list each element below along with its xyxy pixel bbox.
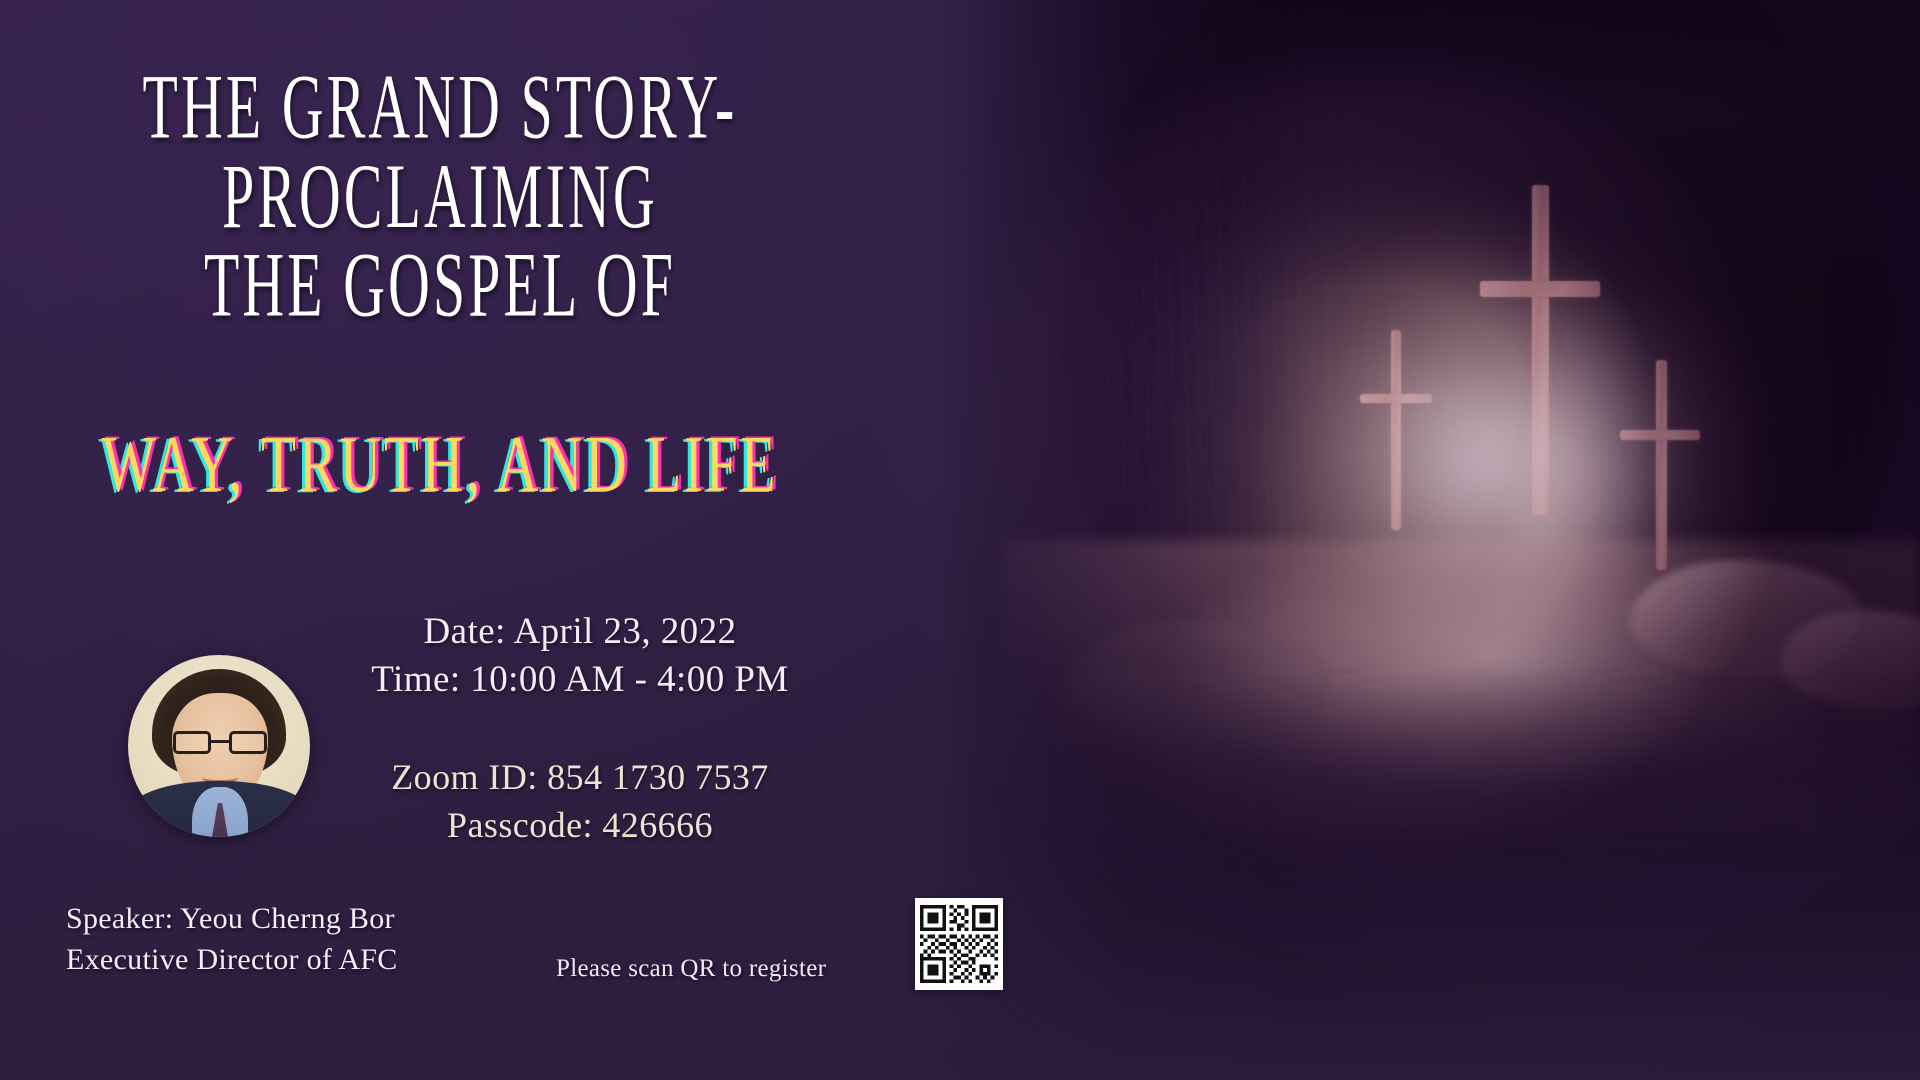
zoom-id: Zoom ID: 854 1730 7537: [300, 754, 860, 802]
headline-line-1: THE GRAND STORY-: [114, 62, 765, 151]
headline-line-2: PROCLAIMING: [114, 151, 765, 240]
speaker-avatar: [128, 655, 310, 837]
speaker-name: Speaker: Yeou Cherng Bor: [66, 898, 398, 939]
page-title: THE GRAND STORY- PROCLAIMING THE GOSPEL …: [114, 62, 765, 330]
zoom-passcode: Passcode: 426666: [300, 802, 860, 850]
meeting-access-info: Zoom ID: 854 1730 7537 Passcode: 426666: [300, 754, 860, 849]
qr-caption: Please scan QR to register: [556, 955, 826, 983]
event-time: Time: 10:00 AM - 4:00 PM: [300, 656, 860, 704]
tomb-crosses-photo: [940, 0, 1920, 1080]
event-date: Date: April 23, 2022: [300, 608, 860, 656]
speaker-title: Executive Director of AFC: [66, 939, 398, 980]
cross-right-icon: [1620, 360, 1700, 570]
glasses-icon: [172, 731, 268, 754]
speaker-caption: Speaker: Yeou Cherng Bor Executive Direc…: [66, 898, 398, 981]
glitch-core-layer: WAY, TRUTH, AND LIFE: [102, 419, 778, 509]
event-flyer: THE GRAND STORY- PROCLAIMING THE GOSPEL …: [0, 0, 1920, 1080]
cross-center-icon: [1480, 185, 1600, 515]
cross-left-icon: [1360, 330, 1432, 530]
headline-accent-line: WAY, TRUTH, AND LIFE WAY, TRUTH, AND LIF…: [88, 418, 792, 511]
glitch-text: WAY, TRUTH, AND LIFE WAY, TRUTH, AND LIF…: [102, 418, 778, 511]
qr-code-graphic: [920, 903, 998, 985]
headline-line-3: THE GOSPEL OF: [114, 241, 765, 330]
qr-code[interactable]: [915, 898, 1003, 990]
event-details: Date: April 23, 2022 Time: 10:00 AM - 4:…: [300, 608, 860, 704]
